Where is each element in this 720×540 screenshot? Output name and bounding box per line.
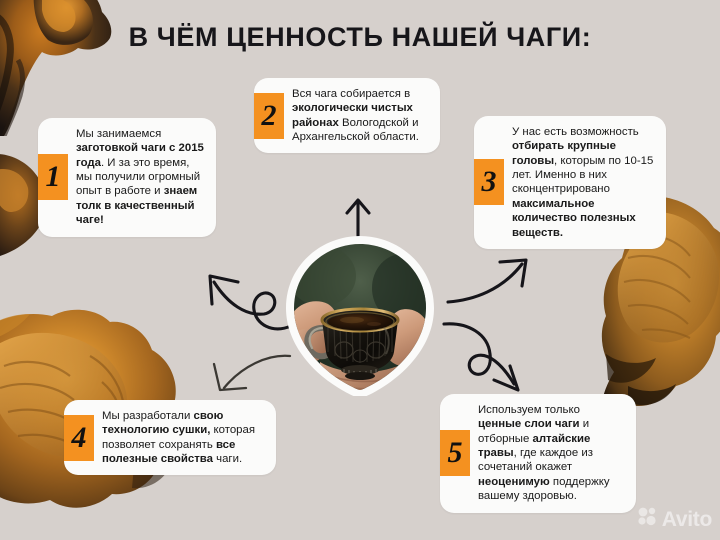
- card-3-number-badge: 3: [474, 159, 504, 205]
- card-1-number-badge: 1: [38, 154, 68, 200]
- value-card-1: 1 Мы занимаемся заготовкой чаги с 2015 г…: [38, 118, 216, 237]
- avito-watermark: Avito: [637, 507, 712, 532]
- card-1-text: Мы занимаемся заготовкой чаги с 2015 год…: [68, 118, 216, 237]
- avito-watermark-text: Avito: [662, 508, 712, 532]
- arrow-left-to-card-1-icon: [188, 262, 293, 342]
- infographic-canvas: В ЧЁМ ЦЕННОСТЬ НАШЕЙ ЧАГИ:: [0, 0, 720, 540]
- card-5-text: Используем только ценные слои чаги и отб…: [470, 394, 636, 513]
- value-card-4: 4 Мы разработали свою технологию сушки, …: [64, 400, 276, 475]
- card-4-number-badge: 4: [64, 415, 94, 461]
- arrow-down-right-to-card-5-icon: [442, 318, 532, 400]
- card-2-text: Вся чага собирается в экологически чисты…: [284, 78, 440, 153]
- page-title: В ЧЁМ ЦЕННОСТЬ НАШЕЙ ЧАГИ:: [0, 22, 720, 53]
- chaga-top-left-image: [0, 0, 140, 136]
- card-2-number-badge: 2: [254, 93, 284, 139]
- value-card-3: 3 У нас есть возможность отбирать крупны…: [474, 116, 666, 249]
- arrow-right-to-card-3-icon: [446, 258, 536, 312]
- avito-logo-icon: [637, 507, 659, 532]
- center-chaga-tea-image: [282, 236, 438, 396]
- card-5-number-badge: 5: [440, 430, 470, 476]
- card-4-text: Мы разработали свою технологию сушки, ко…: [94, 400, 276, 475]
- arrow-down-left-to-card-4-icon: [198, 344, 293, 402]
- value-card-5: 5 Используем только ценные слои чаги и о…: [440, 394, 636, 513]
- card-3-text: У нас есть возможность отбирать крупные …: [504, 116, 666, 249]
- value-card-2: 2 Вся чага собирается в экологически чис…: [254, 78, 440, 153]
